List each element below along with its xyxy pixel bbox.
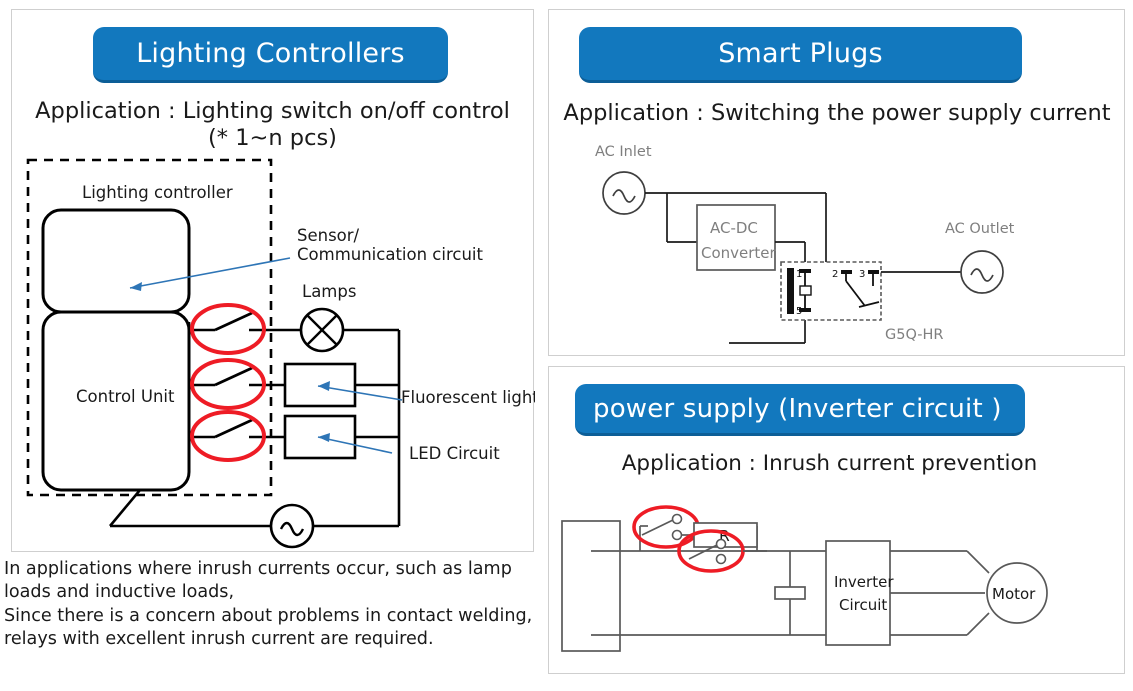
three-phase-output-wires: [890, 551, 989, 635]
lighting-circuit-diagram: Lighting controller Control Unit: [12, 146, 535, 556]
smart-plug-circuit-diagram: AC Inlet AC-DC: [549, 134, 1126, 354]
panel-lighting-controllers: Lighting Controllers Application : Light…: [11, 9, 534, 552]
inverter-circuit-diagram: R: [549, 489, 1126, 674]
slide-root: Lighting Controllers Application : Light…: [0, 0, 1133, 691]
application-line-1: Application : Inrush current prevention: [557, 451, 1102, 476]
ac-outlet-symbol: [961, 251, 1003, 293]
application-line-1: Application : Switching the power supply…: [557, 100, 1117, 127]
highlight-ellipse-inrush-switch-1: [634, 507, 698, 547]
inverter-circuit-block: Inverter Circuit: [826, 541, 894, 645]
motor-symbol: Motor: [987, 563, 1047, 623]
caption-line-3: Since there is a concern about problems …: [4, 605, 544, 628]
sensor-communication-block: [43, 210, 189, 312]
panel-header-lighting-controllers[interactable]: Lighting Controllers: [93, 27, 448, 83]
relay-coil-return-wire: [729, 317, 805, 343]
inverter-label-line-1: Inverter: [834, 573, 894, 591]
application-line-1: Application : Lighting switch on/off con…: [20, 98, 525, 125]
ac-source-branch: [110, 490, 399, 547]
inlet-to-converter-wire: [667, 193, 697, 242]
converter-label-line-1: AC-DC: [710, 219, 758, 237]
ac-inlet-symbol: [603, 172, 645, 214]
sensor-label-line-1: Sensor/: [297, 226, 360, 245]
ac-inlet-label: AC Inlet: [595, 144, 652, 160]
inrush-switch-1: [634, 507, 698, 547]
application-text-lighting: Application : Lighting switch on/off con…: [20, 98, 525, 151]
relay-part-number-label: G5Q-HR: [885, 327, 944, 343]
ac-outlet-label: AC Outlet: [945, 221, 1015, 237]
application-text-smart-plugs: Application : Switching the power supply…: [557, 100, 1117, 127]
caption-line-1: In applications where inrush currents oc…: [4, 558, 544, 581]
relay-g5q-hr-symbol: 1 5 2 3: [781, 262, 881, 320]
panel-power-supply-inverter: power supply (Inverter circuit ) Applica…: [548, 366, 1125, 674]
ac-dc-converter-block: AC-DC Converter: [697, 205, 777, 270]
application-text-inverter: Application : Inrush current prevention: [557, 451, 1102, 476]
ac-source-symbol: [271, 505, 313, 547]
relay-switch-1: [189, 305, 285, 353]
power-source-block: [562, 521, 620, 651]
caption-block: In applications where inrush currents oc…: [4, 558, 544, 652]
sensor-label-line-2: Communication circuit: [297, 245, 483, 264]
inverter-label-line-2: Circuit: [839, 596, 887, 614]
control-unit-label: Control Unit: [76, 387, 175, 406]
lamp-symbol: [285, 309, 399, 351]
led-circuit-block: [285, 416, 399, 458]
converter-label-line-2: Converter: [701, 244, 777, 262]
panel-smart-plugs: Smart Plugs Application : Switching the …: [548, 9, 1125, 356]
motor-label: Motor: [992, 585, 1036, 603]
caption-line-4: relays with excellent inrush current are…: [4, 628, 544, 651]
enclosure-label: Lighting controller: [82, 183, 233, 202]
capacitor-symbol: [775, 551, 805, 635]
fluorescent-light-label: Fluorescent light: [401, 388, 535, 407]
relay-pin-3-label: 3: [859, 269, 865, 280]
lamps-label: Lamps: [302, 282, 356, 301]
led-circuit-label: LED Circuit: [409, 444, 500, 463]
caption-line-2: loads and inductive loads,: [4, 581, 544, 604]
panel-header-smart-plugs[interactable]: Smart Plugs: [579, 27, 1022, 83]
fluorescent-light-block: [285, 364, 399, 406]
panel-header-power-supply-inverter[interactable]: power supply (Inverter circuit ): [575, 384, 1025, 436]
relay-pin-2-label: 2: [832, 269, 838, 280]
